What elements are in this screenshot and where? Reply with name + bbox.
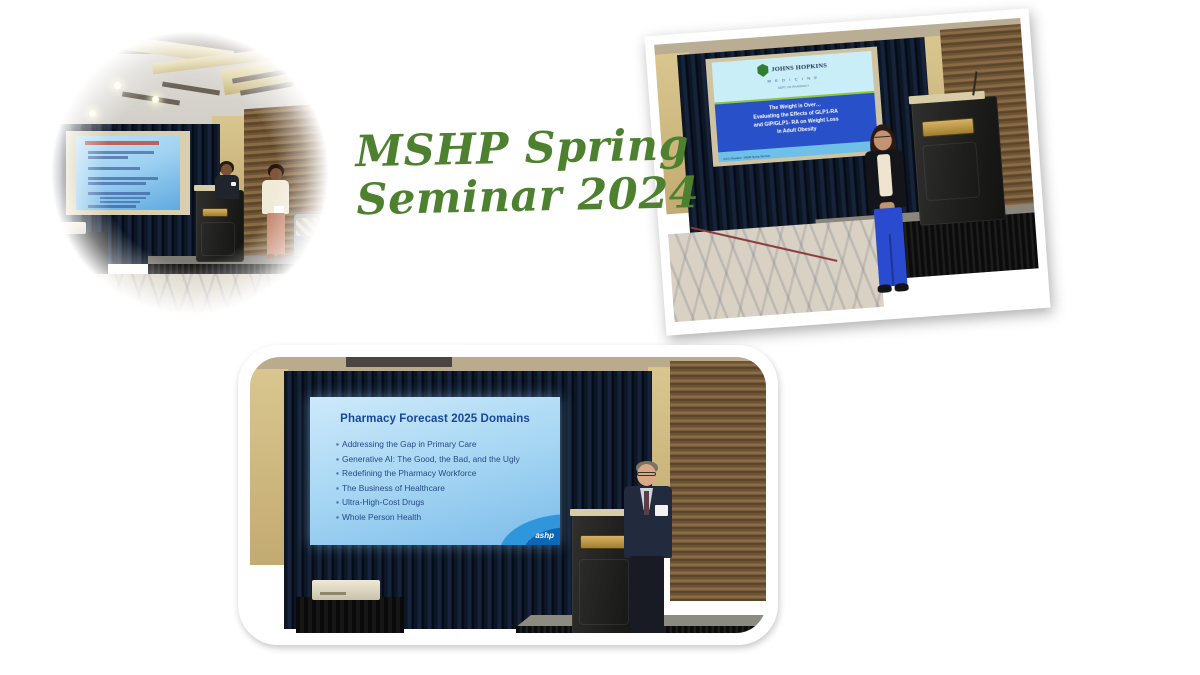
presenter-b-shoe-left: [267, 254, 275, 259]
pharmacy-forecast-scene: Pharmacy Forecast 2025 Domains Addressin…: [250, 357, 766, 633]
podium-front-inset: [201, 222, 235, 256]
slide-bullet-4: The Business of Healthcare: [336, 481, 520, 496]
projection-screen: Pharmacy Forecast 2025 Domains Addressin…: [310, 397, 560, 545]
photo-collage-canvas: JOHNS HOPKINS M E D I C I N E DEPT. OF P…: [0, 0, 1200, 675]
hopkins-shield-icon: [757, 64, 769, 78]
slide-bullet-1: Addressing the Gap in Primary Care: [336, 437, 520, 452]
collage-title: MSHP Spring Seminar 2024: [355, 125, 667, 223]
projection-screen: JOHNS HOPKINS M E D I C I N E DEPT. OF P…: [712, 51, 879, 162]
wall-wood-texture: [670, 361, 766, 601]
presenter-b-shoe-right: [277, 254, 285, 259]
presenter-b-trousers: [267, 213, 285, 256]
projector-lens-icon: [320, 592, 346, 595]
title-line-1: MSHP Spring: [355, 125, 666, 175]
carpet: [668, 219, 884, 322]
hopkins-wordmark: JOHNS HOPKINS: [771, 62, 827, 73]
podium: [911, 96, 1006, 226]
speaker-glasses-icon: [637, 472, 656, 476]
podium-plaque: [921, 118, 974, 138]
title-line-2: Seminar 2024: [356, 173, 667, 223]
slide-title: Pharmacy Forecast 2025 Domains: [310, 413, 560, 425]
tilted-photo-frame: JOHNS HOPKINS M E D I C I N E DEPT. OF P…: [645, 8, 1051, 335]
tilted-photo-glp1-presenter: JOHNS HOPKINS M E D I C I N E DEPT. OF P…: [645, 8, 1051, 335]
downlight-1: [114, 82, 121, 89]
oval-photo-scene: [44, 24, 336, 322]
slide-bullet-2: Generative AI: The Good, the Bad, and th…: [336, 452, 520, 467]
presenter-shoe-left: [877, 284, 892, 293]
rounded-photo-scene: Pharmacy Forecast 2025 Domains Addressin…: [250, 357, 766, 633]
ceiling-recess: [346, 357, 452, 367]
podium-front-inset: [922, 141, 980, 201]
presenter-a-badge: [231, 182, 236, 186]
slide-bullet-3: Redefining the Pharmacy Workforce: [336, 466, 520, 481]
podium-plaque: [580, 535, 626, 549]
draped-table: [296, 597, 404, 633]
presenter-shoe-right: [894, 283, 909, 292]
projection-screen: [76, 136, 180, 210]
wall-panel-left: [250, 369, 288, 565]
side-table: [52, 232, 108, 278]
presenter-at-podium: [212, 161, 242, 201]
podium-plaque: [202, 208, 228, 217]
speaker-necktie: [644, 491, 649, 515]
speaker-at-podium: [622, 461, 676, 633]
rounded-photo-pharmacy-forecast: Pharmacy Forecast 2025 Domains Addressin…: [238, 345, 778, 645]
oval-photo-two-presenters: [44, 24, 336, 322]
presenter-a-torso: [215, 175, 239, 199]
tilted-photo-scene: JOHNS HOPKINS M E D I C I N E DEPT. OF P…: [654, 18, 1040, 322]
lounge-cushion: [296, 218, 318, 236]
projector: [312, 580, 380, 600]
downlight-3: [89, 110, 96, 117]
downlight-2: [152, 96, 159, 103]
speaker-name-badge: [655, 505, 668, 516]
ashp-logo: ashp: [535, 531, 554, 540]
presenter-standing: [260, 164, 292, 262]
av-box: [56, 222, 86, 234]
speaker-trousers: [630, 556, 664, 633]
carpet: [44, 274, 336, 322]
